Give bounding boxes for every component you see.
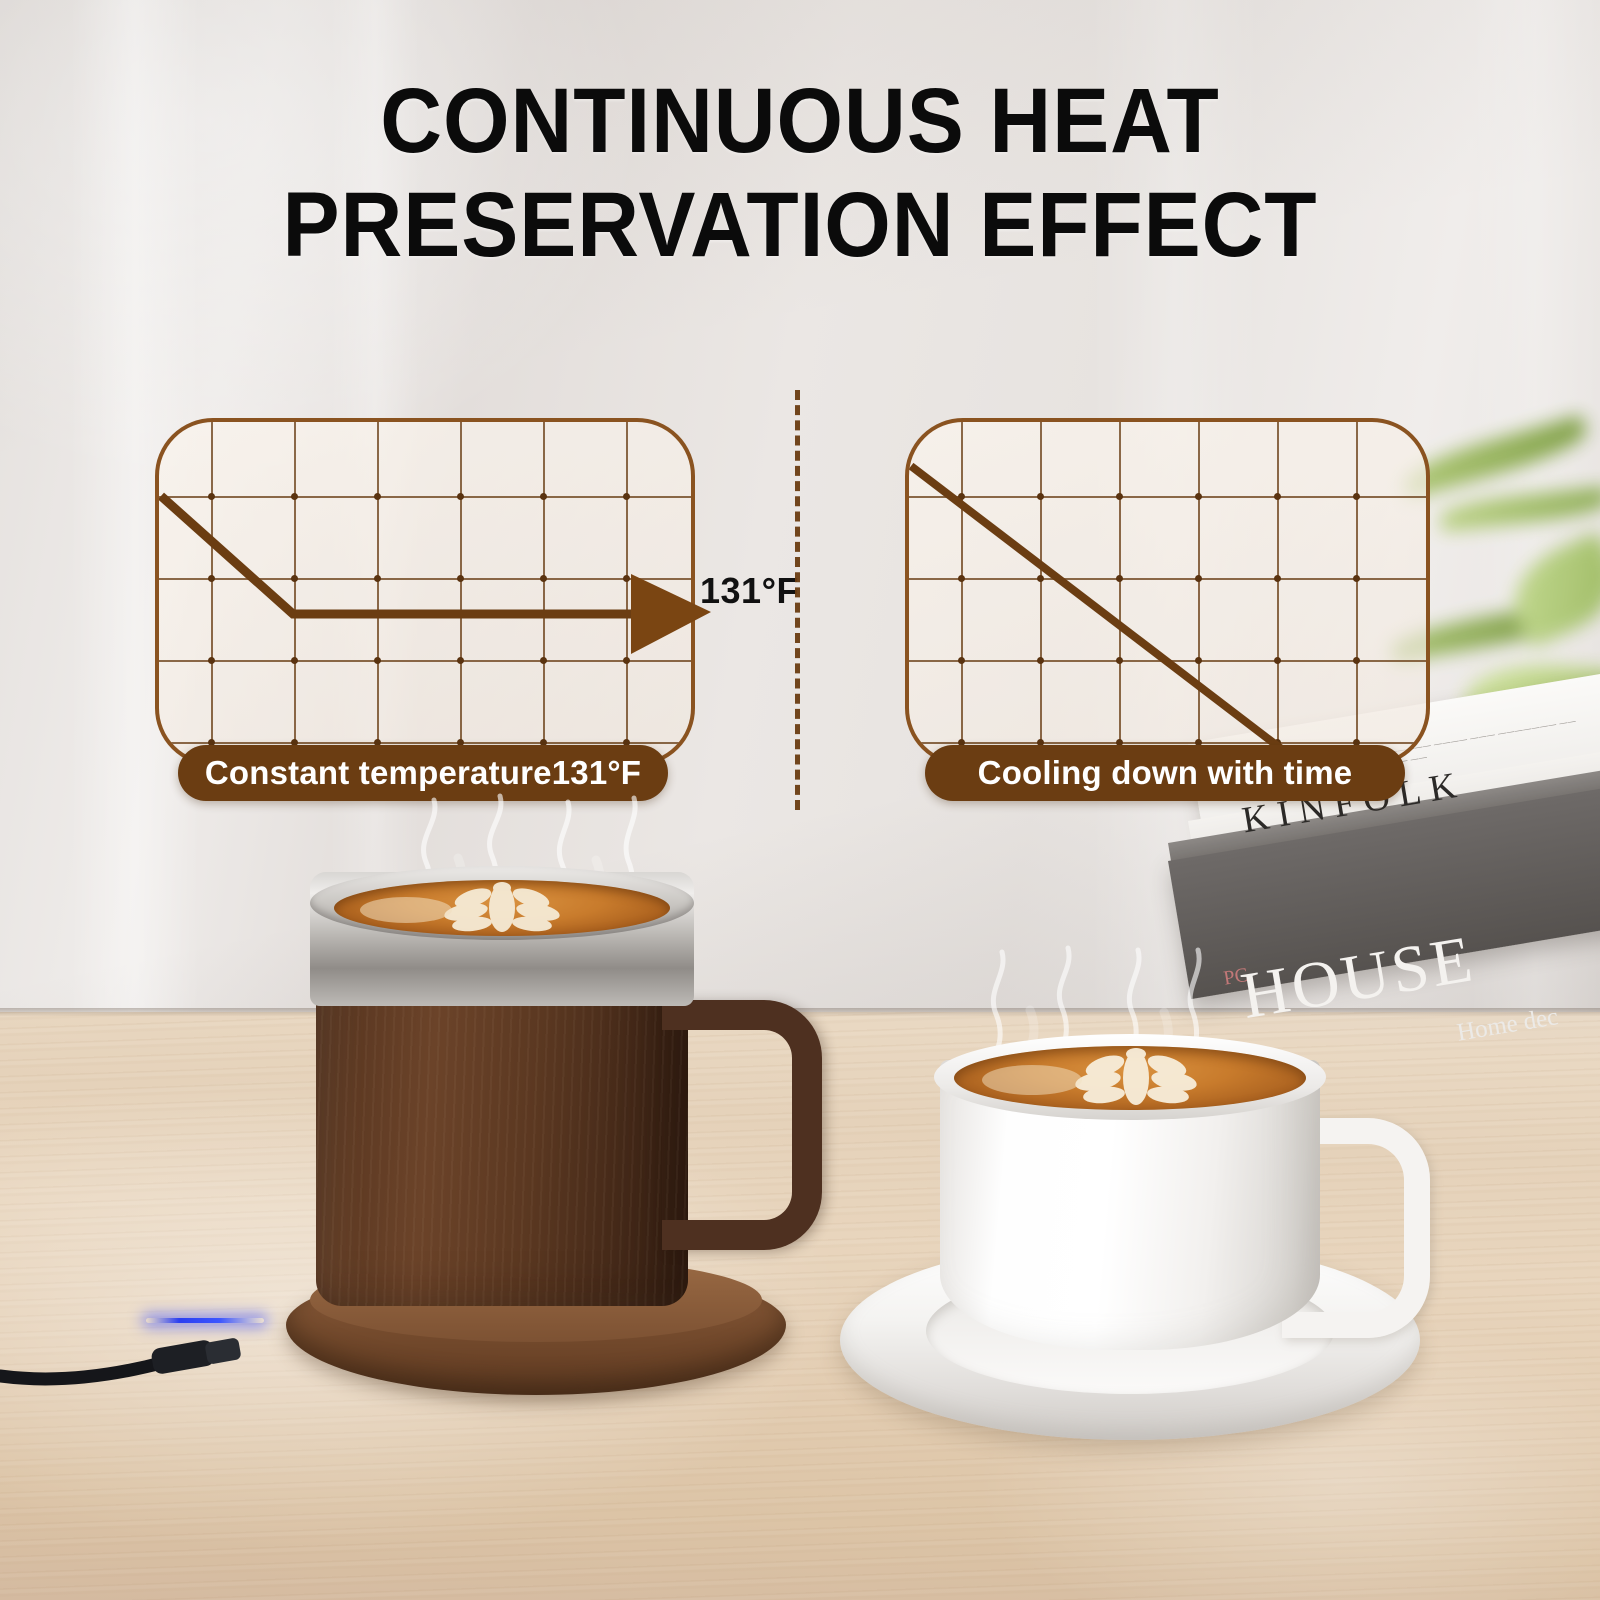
temperature-value-label: 131°F bbox=[700, 570, 799, 612]
page-title: CONTINUOUS HEAT PRESERVATION EFFECT bbox=[56, 75, 1544, 273]
page-title-line2: PRESERVATION EFFECT bbox=[56, 179, 1544, 273]
panel-divider bbox=[795, 390, 800, 810]
mug-coffee-surface bbox=[334, 880, 670, 936]
chart-panel-cooling-down bbox=[905, 418, 1430, 766]
mug-handle bbox=[662, 1000, 822, 1250]
smart-heated-mug bbox=[280, 860, 800, 1440]
chart-series-cooling bbox=[909, 422, 1430, 766]
chart-caption-right-label: Cooling down with time bbox=[978, 754, 1353, 792]
chart-caption-left: Constant temperature131°F bbox=[178, 745, 668, 801]
chart-frame-left bbox=[155, 418, 695, 766]
page-title-line1: CONTINUOUS HEAT bbox=[380, 70, 1219, 172]
chart-caption-left-label: Constant temperature131°F bbox=[205, 754, 641, 792]
white-ceramic-cup bbox=[830, 1010, 1440, 1460]
product-infographic: —————— ———— ——— ——————— —— ——— —— KINFOL… bbox=[0, 0, 1600, 1600]
chart-caption-right: Cooling down with time bbox=[925, 745, 1405, 801]
chart-frame-right bbox=[905, 418, 1430, 766]
cup-coffee-surface bbox=[954, 1046, 1306, 1110]
chart-panel-constant-temperature bbox=[155, 418, 695, 766]
usb-power-cable bbox=[0, 1300, 300, 1420]
chart-series-constant bbox=[159, 422, 695, 766]
